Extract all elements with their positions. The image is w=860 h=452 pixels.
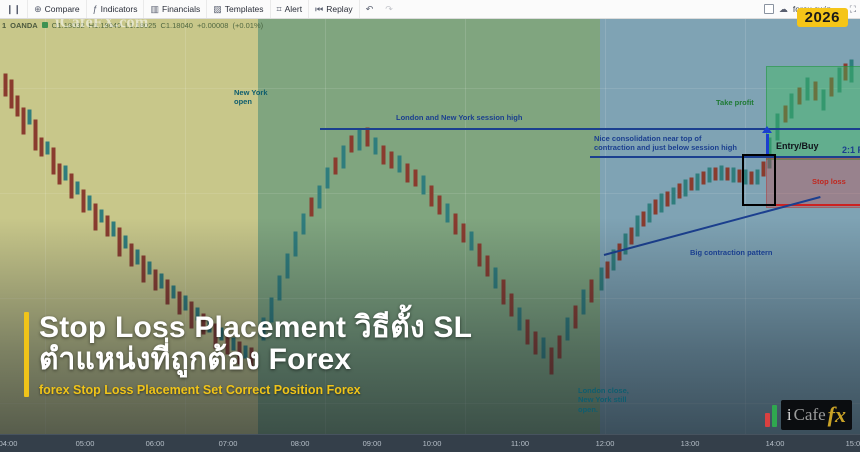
- annotation-stop-loss: Stop loss: [812, 177, 846, 186]
- legend-status-dot: [42, 22, 48, 28]
- toolbar-replay-label: Replay: [326, 4, 352, 14]
- time-tick: 11:00: [511, 439, 529, 448]
- toolbar-checkbox[interactable]: [764, 4, 774, 14]
- entry-arrow-head: [762, 126, 772, 133]
- time-tick: 12:00: [596, 439, 615, 448]
- brand-mid: Cafe: [794, 405, 826, 425]
- brand-logo: i Cafe fx: [765, 400, 852, 430]
- time-tick: 06:00: [146, 439, 165, 448]
- toolbar-financials-label: Financials: [162, 4, 200, 14]
- toolbar-compare-label: Compare: [45, 4, 80, 14]
- time-axis[interactable]: 04:00 05:00 06:00 07:00 08:00 09:00 10:0…: [0, 434, 860, 452]
- toolbar-indicators-label: Indicators: [101, 4, 138, 14]
- toolbar-templates-button[interactable]: ▨ Templates: [207, 0, 270, 18]
- legend-change-percent: (+0.01%): [232, 21, 263, 30]
- annotation-session-high: London and New York session high: [396, 113, 522, 122]
- toolbar-chart-type-button[interactable]: ❙❙: [0, 0, 28, 18]
- candle-red: [765, 413, 770, 427]
- annotation-big-contraction: Big contraction pattern: [690, 248, 773, 257]
- title-accent-bar: [24, 312, 29, 397]
- replay-icon: ⏮: [315, 5, 323, 14]
- time-tick: 10:00: [423, 439, 442, 448]
- time-tick: 15:00: [846, 439, 860, 448]
- annotation-consolidation: Nice consolidation near top of contracti…: [594, 134, 737, 153]
- template-icon: ▨: [213, 5, 222, 14]
- annotation-london-close: London close, New York still open.: [578, 386, 629, 414]
- redo-icon: ↷: [385, 5, 393, 14]
- candles-icon: ❙❙: [6, 5, 21, 14]
- toolbar-redo-button[interactable]: ↷: [379, 0, 399, 18]
- brand-suffix: fx: [828, 402, 846, 428]
- toolbar-templates-label: Templates: [225, 4, 264, 14]
- legend-close: C1.18040: [160, 21, 193, 30]
- year-badge: 2026: [797, 8, 848, 27]
- undo-icon: ↶: [366, 5, 374, 14]
- annotation-take-profit: Take profit: [716, 98, 754, 107]
- legend-low: L1.18025: [125, 21, 156, 30]
- page-subtitle: forex Stop Loss Placement Set Correct Po…: [39, 383, 472, 397]
- time-tick: 14:00: [766, 439, 785, 448]
- legend-index: 1: [2, 21, 6, 30]
- time-tick: 09:00: [363, 439, 382, 448]
- legend-change: +0.00008: [197, 21, 229, 30]
- alert-icon: ⌗: [277, 5, 282, 14]
- toolbar-alert-button[interactable]: ⌗ Alert: [271, 0, 310, 18]
- plus-circle-icon: ⊕: [34, 5, 42, 14]
- title-block: Stop Loss Placement วิธีตั้ง SL ตำแหน่งท…: [24, 312, 472, 397]
- toolbar-replay-button[interactable]: ⏮ Replay: [309, 0, 360, 18]
- annotation-new-york-open: New York open: [234, 88, 268, 107]
- toolbar-financials-button[interactable]: ▥ Financials: [144, 0, 207, 18]
- cloud-icon: ☁: [779, 5, 788, 14]
- time-tick: 07:00: [219, 439, 238, 448]
- legend-open: O1.18032: [52, 21, 85, 30]
- ohlc-legend: 1 OANDA O1.18032 H1.18040 L1.18025 C1.18…: [2, 19, 263, 31]
- annotation-risk-reward: 2:1 R: [842, 145, 860, 156]
- candles-icon: [765, 403, 777, 427]
- chart-toolbar[interactable]: ❙❙ ⊕ Compare ƒ Indicators ▥ Financials ▨…: [0, 0, 860, 19]
- fx-icon: ƒ: [93, 5, 98, 14]
- toolbar-compare-button[interactable]: ⊕ Compare: [28, 0, 87, 18]
- candle-green: [772, 405, 777, 427]
- brand-prefix: i: [787, 405, 792, 425]
- toolbar-undo-button[interactable]: ↶: [360, 0, 380, 18]
- toolbar-alert-label: Alert: [285, 4, 302, 14]
- legend-high: H1.18040: [89, 21, 122, 30]
- time-tick: 08:00: [291, 439, 310, 448]
- page-title-line1: Stop Loss Placement วิธีตั้ง SL: [39, 312, 472, 344]
- toolbar-indicators-button[interactable]: ƒ Indicators: [87, 0, 145, 18]
- bars-icon: ▥: [150, 5, 159, 14]
- page-title-line2: ตำแหน่งที่ถูกต้อง Forex: [39, 344, 472, 376]
- annotation-entry-buy: Entry/Buy: [776, 141, 819, 152]
- fullscreen-icon[interactable]: ⛶: [850, 5, 856, 14]
- consolidation-line: [590, 156, 860, 158]
- entry-arrow-stem: [766, 134, 769, 154]
- entry-highlight-box: [742, 154, 776, 206]
- legend-exchange: OANDA: [10, 21, 38, 30]
- session-high-line: [320, 128, 860, 130]
- time-tick: 05:00: [76, 439, 95, 448]
- screenshot-root: New York open London and New York sessio…: [0, 0, 860, 452]
- time-tick: 04:00: [0, 439, 17, 448]
- time-tick: 13:00: [681, 439, 700, 448]
